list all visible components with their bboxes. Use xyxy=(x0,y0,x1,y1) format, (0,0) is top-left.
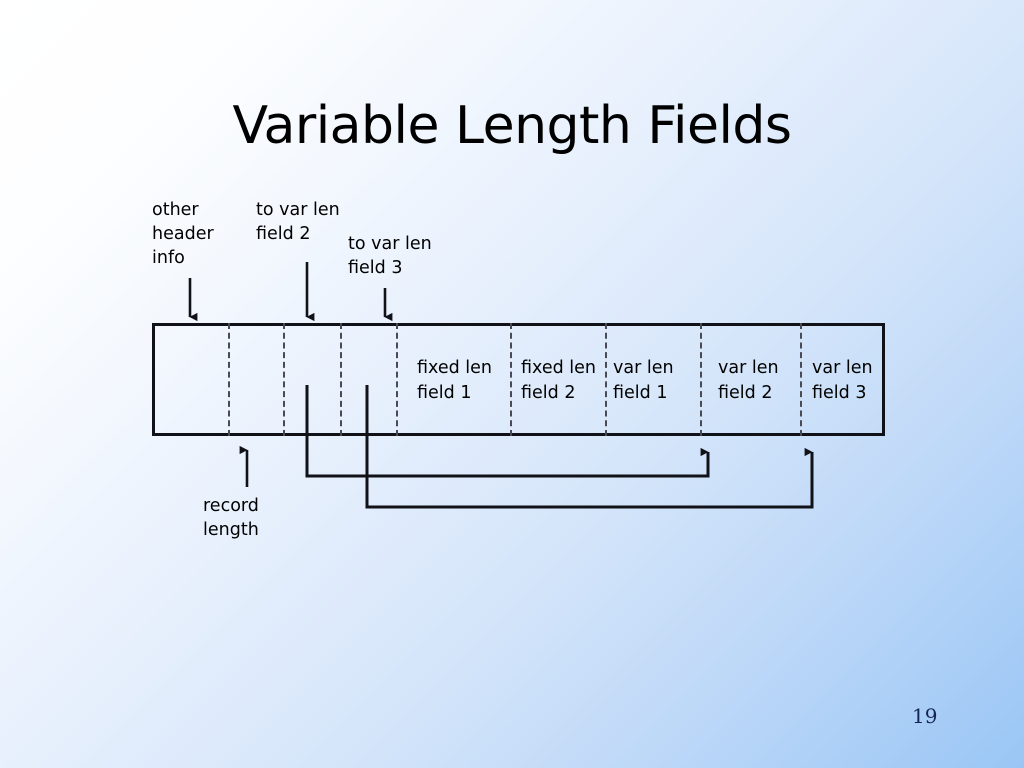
cell-label-var-len-field-2: var len field 2 xyxy=(718,356,779,405)
field-divider-2 xyxy=(283,323,285,436)
slide-number: 19 xyxy=(912,704,937,728)
field-divider-3 xyxy=(340,323,342,436)
callout-label-to-var-len-field-3: to var len field 3 xyxy=(348,232,432,280)
slide-canvas: Variable Length Fields other header info… xyxy=(0,0,1024,768)
field-divider-7 xyxy=(700,323,702,436)
page-title: Variable Length Fields xyxy=(0,98,1024,154)
cell-label-var-len-field-1: var len field 1 xyxy=(613,356,674,405)
field-divider-8 xyxy=(800,323,802,436)
field-divider-4 xyxy=(396,323,398,436)
field-divider-5 xyxy=(510,323,512,436)
cell-label-var-len-field-3: var len field 3 xyxy=(812,356,873,405)
callout-label-record-length: record length xyxy=(203,494,259,542)
cell-label-fixed-len-field-2: fixed len field 2 xyxy=(521,356,596,405)
cell-label-fixed-len-field-1: fixed len field 1 xyxy=(417,356,492,405)
callout-label-other-header-info: other header info xyxy=(152,198,214,270)
callout-label-to-var-len-field-2: to var len field 2 xyxy=(256,198,340,246)
field-divider-6 xyxy=(605,323,607,436)
field-divider-1 xyxy=(228,323,230,436)
